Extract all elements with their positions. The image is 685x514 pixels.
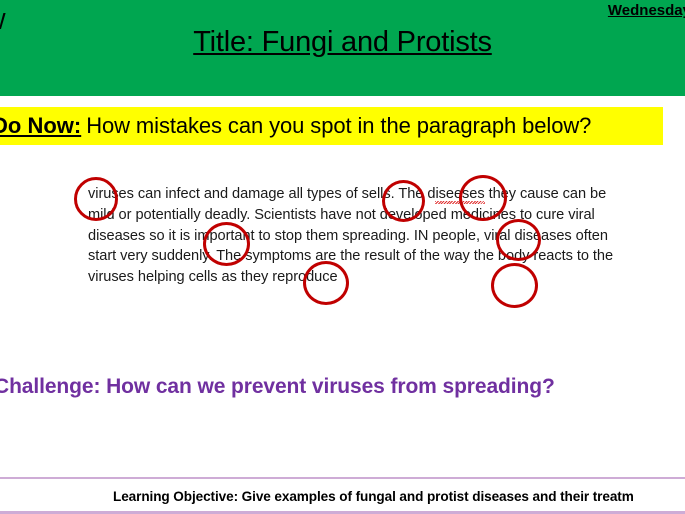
footer-divider-top — [0, 477, 685, 479]
circle-in — [496, 219, 541, 261]
slide-canvas: W Wednesday Title: Fungi and Protists Do… — [0, 0, 685, 514]
circle-so-it — [203, 222, 250, 266]
mistake-paragraph: viruses can infect and damage all types … — [88, 184, 624, 288]
circle-reproduce — [491, 263, 538, 308]
circle-diseeses — [459, 175, 507, 221]
do-now-bar: Do Now: How mistakes can you spot in the… — [0, 107, 663, 145]
circle-viruses — [74, 177, 118, 221]
header-band: W Wednesday Title: Fungi and Protists — [0, 0, 685, 96]
challenge-text: Challenge: How can we prevent viruses fr… — [0, 375, 555, 399]
do-now-label: Do Now: — [0, 113, 86, 139]
do-now-question: How mistakes can you spot in the paragra… — [86, 113, 591, 139]
circle-sells — [382, 180, 425, 222]
page-title: Title: Fungi and Protists — [0, 26, 685, 59]
header-date-right: Wednesday — [608, 2, 685, 19]
circle-helping — [303, 261, 349, 305]
learning-objective: Learning Objective: Give examples of fun… — [113, 489, 634, 504]
